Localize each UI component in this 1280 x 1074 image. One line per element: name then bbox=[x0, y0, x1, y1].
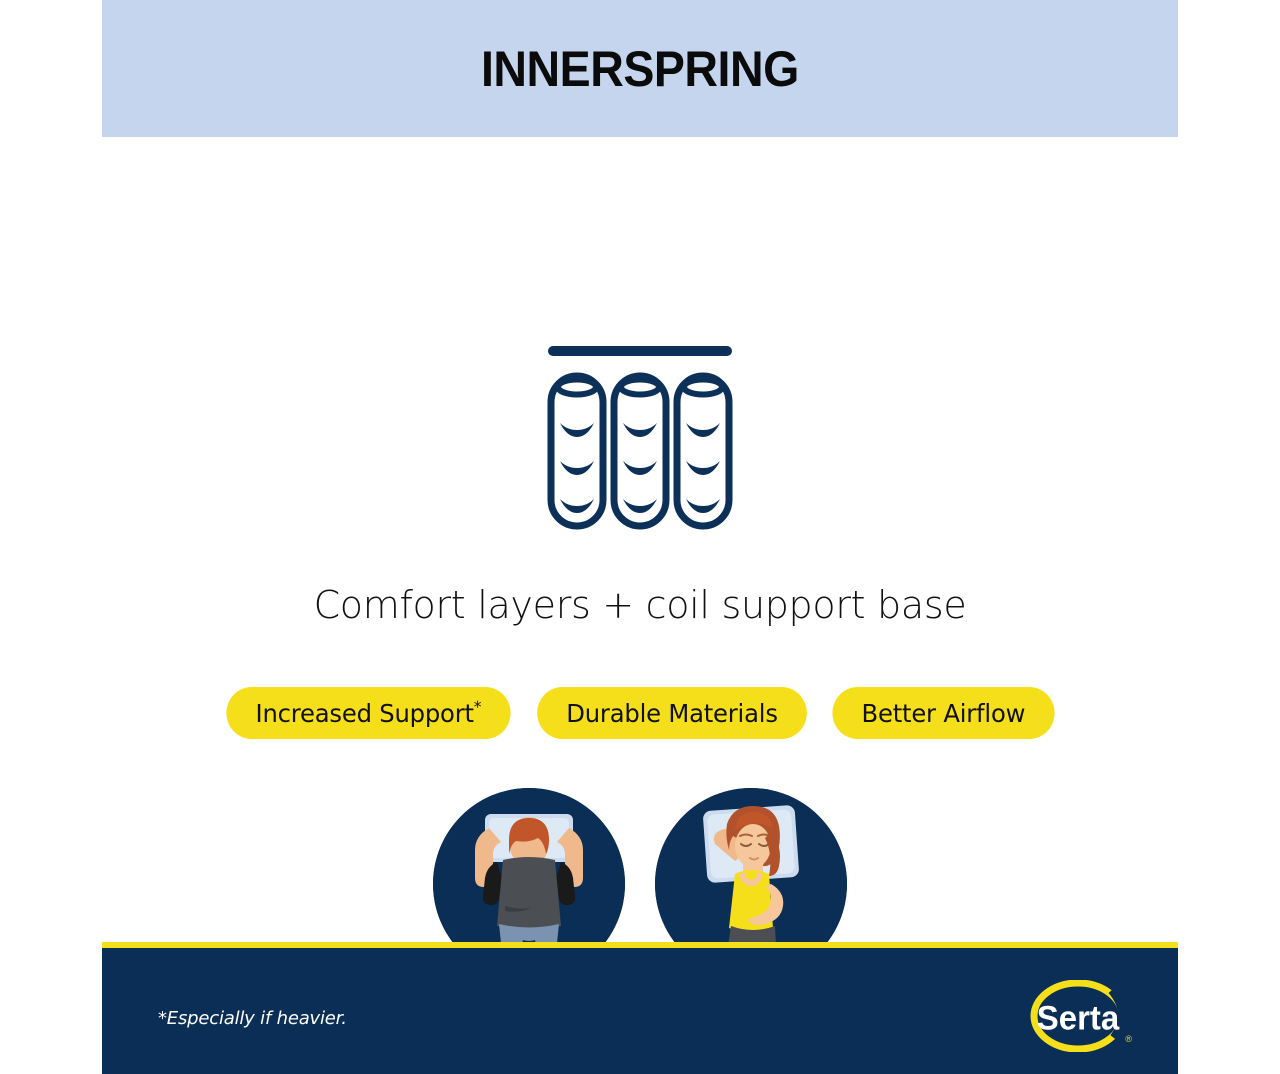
benefit-pill-label: Better Airflow bbox=[862, 699, 1026, 728]
card-footer: *Especially if heavier. Serta ® bbox=[102, 942, 1178, 1074]
innerspring-info-card: INNERSPRING bbox=[102, 0, 1178, 1074]
serta-wordmark: Serta bbox=[1037, 999, 1121, 1038]
benefit-pill-list: Increased Support* Durable Materials Bet… bbox=[102, 687, 1178, 739]
coil-icon-container bbox=[102, 337, 1178, 533]
headline-text: Comfort layers + coil support base bbox=[102, 583, 1178, 627]
card-header: INNERSPRING bbox=[102, 0, 1178, 137]
page-title: INNERSPRING bbox=[481, 40, 799, 98]
footnote-text: *Especially if heavier. bbox=[158, 1008, 347, 1029]
serta-logo[interactable]: Serta bbox=[1028, 980, 1128, 1052]
card-body: Comfort layers + coil support base Incre… bbox=[102, 137, 1178, 942]
coil-springs-icon bbox=[540, 337, 740, 533]
benefit-pill-increased-support[interactable]: Increased Support* bbox=[227, 687, 511, 739]
benefit-pill-label: Durable Materials bbox=[566, 699, 777, 728]
coil-1 bbox=[551, 376, 603, 526]
benefit-pill-durable-materials[interactable]: Durable Materials bbox=[537, 687, 807, 739]
coil-3 bbox=[677, 376, 729, 526]
coil-2 bbox=[614, 376, 666, 526]
registered-trademark-mark: ® bbox=[1125, 1034, 1132, 1044]
coil-top-bar bbox=[548, 346, 732, 356]
benefit-pill-label: Increased Support bbox=[256, 699, 474, 728]
benefit-pill-better-airflow[interactable]: Better Airflow bbox=[832, 687, 1054, 739]
